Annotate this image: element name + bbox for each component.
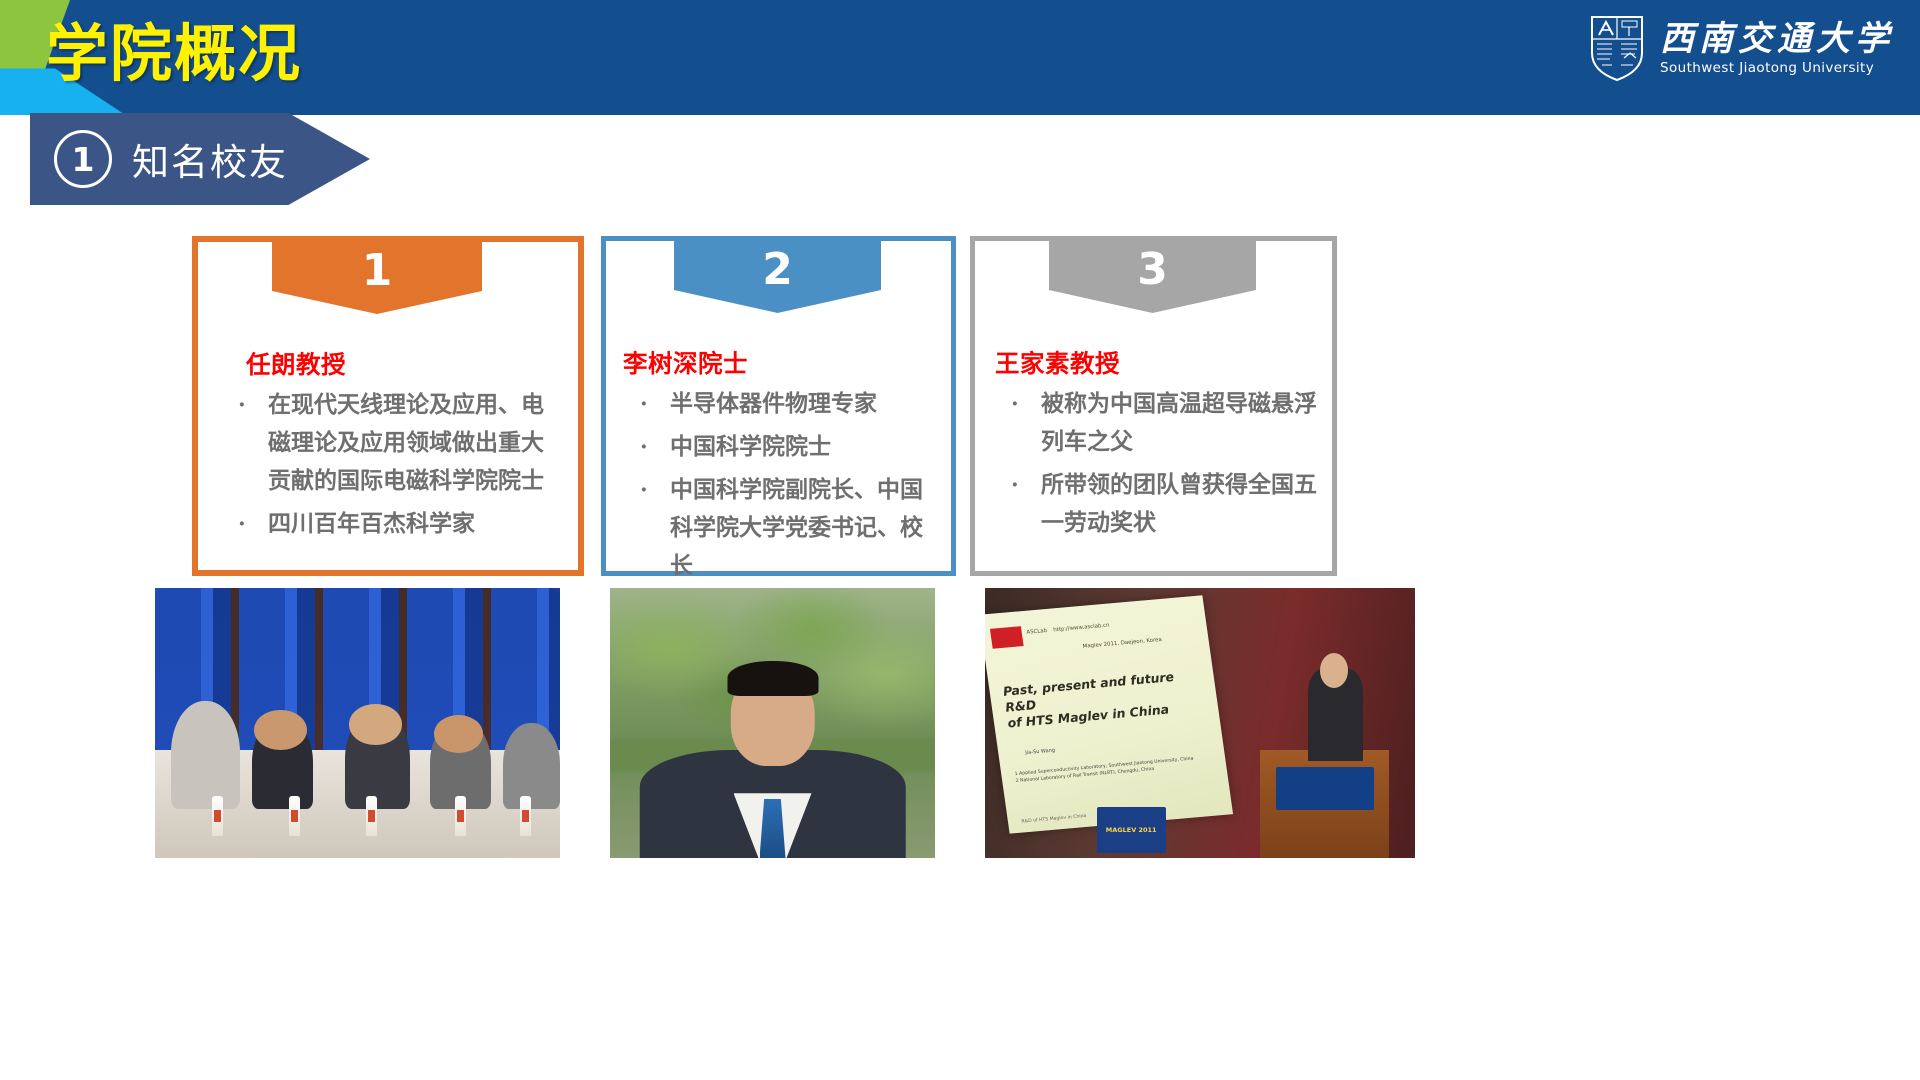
bullet-marker: · — [640, 385, 670, 423]
card-number-1: 1 — [362, 242, 393, 300]
card-number-banner-2: 2 — [674, 241, 881, 313]
section-title: 知名校友 — [132, 132, 288, 186]
photo1-person — [503, 723, 560, 809]
photo1-bottle — [455, 796, 466, 836]
bullet-text: 被称为中国高温超导磁悬浮列车之父 — [1041, 385, 1322, 461]
page-title: 学院概况 — [46, 6, 302, 101]
alumni-name-3: 王家素教授 — [975, 345, 1332, 380]
photo-li-shushen-portrait — [610, 588, 935, 858]
logo-chinese-name: 西南交通大学 — [1660, 21, 1894, 57]
alumni-name-1: 任朗教授 — [198, 346, 578, 381]
logo-english-name: Southwest Jiaotong University — [1660, 60, 1894, 76]
bullet-text: 在现代天线理论及应用、电磁理论及应用领域做出重大贡献的国际电磁科学院院士 — [268, 386, 562, 500]
list-item: · 中国科学院副院长、中国科学院大学党委书记、校长 — [640, 471, 937, 585]
section-banner: 1 知名校友 — [30, 113, 370, 205]
bullet-marker: · — [238, 505, 268, 543]
photo1-bottle — [520, 796, 531, 836]
photo3-podium-sign — [1276, 767, 1374, 810]
photo3-screen-affiliation: 1 Applied Superconductivity Laboratory, … — [1014, 756, 1195, 785]
bullet-marker: · — [1011, 385, 1041, 423]
photo3-screen-venue: Maglev 2011, Daejeon, Korea — [1082, 637, 1162, 650]
photo3-screen-logo — [990, 627, 1024, 649]
list-item: · 半导体器件物理专家 — [640, 385, 937, 423]
photo1-bottle — [366, 796, 377, 836]
photo1-bottle — [212, 796, 223, 836]
photo3-screen-author: Jia-Su Wang — [1025, 748, 1055, 757]
alumni-bullets-2: · 半导体器件物理专家 · 中国科学院院士 · 中国科学院副院长、中国科学院大学… — [606, 385, 951, 590]
photo-row: ASCLab http://www.asclab.cn Maglev 2011,… — [0, 588, 1920, 868]
card-number-banner-1: 1 — [272, 242, 482, 314]
photo3-projection-screen: ASCLab http://www.asclab.cn Maglev 2011,… — [985, 596, 1232, 835]
alumni-card-2: 2 李树深院士 · 半导体器件物理专家 · 中国科学院院士 · 中国科学院副院长… — [601, 236, 956, 576]
card-number-2: 2 — [762, 241, 793, 299]
bullet-text: 四川百年百杰科学家 — [268, 505, 562, 543]
card-number-banner-3: 3 — [1049, 241, 1256, 313]
alumni-card-3: 3 王家素教授 · 被称为中国高温超导磁悬浮列车之父 · 所带领的团队曾获得全国… — [970, 236, 1337, 576]
bullet-text: 所带领的团队曾获得全国五一劳动奖状 — [1041, 466, 1322, 542]
bullet-marker: · — [1011, 466, 1041, 504]
photo2-hair — [727, 661, 818, 696]
slide-header: 学院概况 西南交通大学 Southwest Jiaotong Universit… — [0, 0, 1920, 115]
bullet-text: 半导体器件物理专家 — [670, 385, 937, 423]
alumni-card-1: 1 任朗教授 · 在现代天线理论及应用、电磁理论及应用领域做出重大贡献的国际电磁… — [192, 236, 584, 576]
section-number-badge: 1 — [54, 130, 112, 188]
list-item: · 四川百年百杰科学家 — [238, 505, 562, 543]
bullet-marker: · — [640, 428, 670, 466]
university-logo: 西南交通大学 Southwest Jiaotong University — [1588, 10, 1894, 86]
photo1-person-head — [434, 715, 483, 753]
bullet-text: 中国科学院院士 — [670, 428, 937, 466]
photo3-event-banner: MAGLEV 2011 — [1097, 807, 1166, 853]
photo1-person-head — [254, 710, 307, 751]
photo1-person — [171, 701, 240, 809]
swjtu-crest-icon — [1588, 13, 1646, 83]
photo3-screen-title: Past, present and future R&D of HTS Magl… — [1002, 666, 1214, 731]
photo3-screen-footer: R&D of HTS Maglev in China — [1021, 814, 1087, 825]
photo-ren-lang-conference — [155, 588, 560, 858]
bullet-marker: · — [238, 386, 268, 424]
photo1-person-head — [349, 704, 402, 745]
list-item: · 被称为中国高温超导磁悬浮列车之父 — [1011, 385, 1322, 461]
card-number-3: 3 — [1137, 241, 1168, 299]
alumni-bullets-3: · 被称为中国高温超导磁悬浮列车之父 · 所带领的团队曾获得全国五一劳动奖状 — [975, 385, 1332, 547]
photo1-bottle — [289, 796, 300, 836]
alumni-name-2: 李树深院士 — [606, 345, 951, 380]
photo3-banner-text: MAGLEV 2011 — [1097, 807, 1166, 853]
list-item: · 所带领的团队曾获得全国五一劳动奖状 — [1011, 466, 1322, 542]
photo3-screen-org: ASCLab — [1026, 628, 1047, 636]
alumni-card-group: 1 任朗教授 · 在现代天线理论及应用、电磁理论及应用领域做出重大贡献的国际电磁… — [0, 236, 1920, 576]
photo3-podium — [1260, 750, 1389, 858]
photo-wang-jiasu-maglev-presentation: ASCLab http://www.asclab.cn Maglev 2011,… — [985, 588, 1415, 858]
list-item: · 中国科学院院士 — [640, 428, 937, 466]
list-item: · 在现代天线理论及应用、电磁理论及应用领域做出重大贡献的国际电磁科学院院士 — [238, 386, 562, 500]
bullet-marker: · — [640, 471, 670, 509]
photo3-screen-org-url: http://www.asclab.cn — [1052, 622, 1109, 633]
alumni-bullets-1: · 在现代天线理论及应用、电磁理论及应用领域做出重大贡献的国际电磁科学院院士 ·… — [198, 386, 578, 548]
bullet-text: 中国科学院副院长、中国科学院大学党委书记、校长 — [670, 471, 937, 585]
